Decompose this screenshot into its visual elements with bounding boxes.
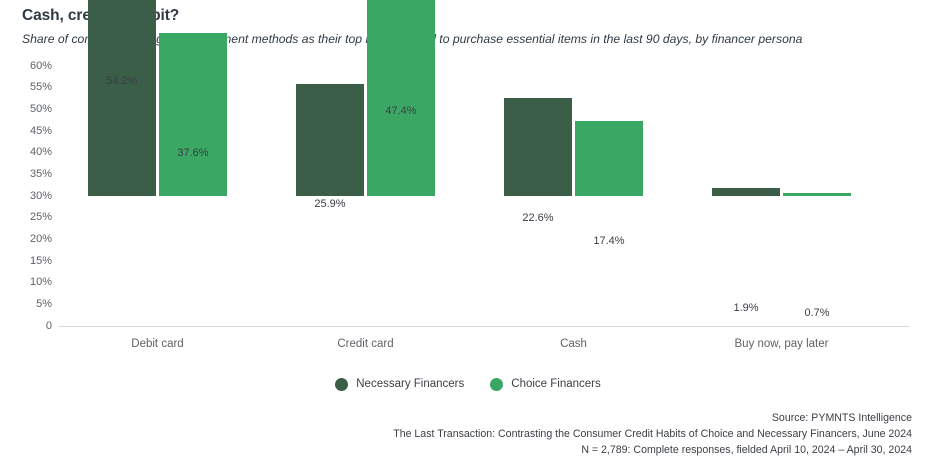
bar-credit-card-choice[interactable] [367,0,435,196]
bar-value-label: 0.7% [777,307,857,319]
bar-debit-card-necessary[interactable] [88,0,156,196]
legend-swatch-icon [335,378,348,391]
chart-plot-area: 60%55%50%45%40%35%30%25%20%15%10%5%0 54.… [0,0,936,470]
chart-legend: Necessary FinancersChoice Financers [0,378,936,391]
legend-item-necessary-financers[interactable]: Necessary Financers [335,378,464,391]
x-axis-category-label: Credit card [266,338,466,351]
bar-debit-card-choice[interactable] [159,33,227,196]
bar-value-label: 1.9% [706,302,786,314]
bar-value-label: 47.4% [361,105,441,117]
bar-credit-card-necessary[interactable] [296,84,364,196]
bar-value-label: 37.6% [153,147,233,159]
bar-cash-necessary[interactable] [504,98,572,196]
bar-buy-now-pay-later-necessary[interactable] [712,188,780,196]
x-axis-category-label: Debit card [58,338,258,351]
bar-value-label: 17.4% [569,235,649,247]
bar-value-label: 25.9% [290,198,370,210]
footer-line: The Last Transaction: Contrasting the Co… [22,426,912,442]
bar-buy-now-pay-later-choice[interactable] [783,193,851,196]
footer-line: N = 2,789: Complete responses, fielded A… [22,442,912,458]
bar-value-label: 22.6% [498,212,578,224]
bars-layer: 54.2%37.6%Debit card25.9%47.4%Credit car… [0,0,936,340]
chart-footer: Source: PYMNTS IntelligenceThe Last Tran… [22,410,912,458]
legend-item-choice-financers[interactable]: Choice Financers [490,378,600,391]
x-axis-category-label: Cash [474,338,674,351]
legend-swatch-icon [490,378,503,391]
legend-label: Necessary Financers [356,378,464,391]
x-axis-category-label: Buy now, pay later [682,338,882,351]
legend-label: Choice Financers [511,378,600,391]
footer-line: Source: PYMNTS Intelligence [22,410,912,426]
bar-cash-choice[interactable] [575,121,643,196]
bar-value-label: 54.2% [82,75,162,87]
